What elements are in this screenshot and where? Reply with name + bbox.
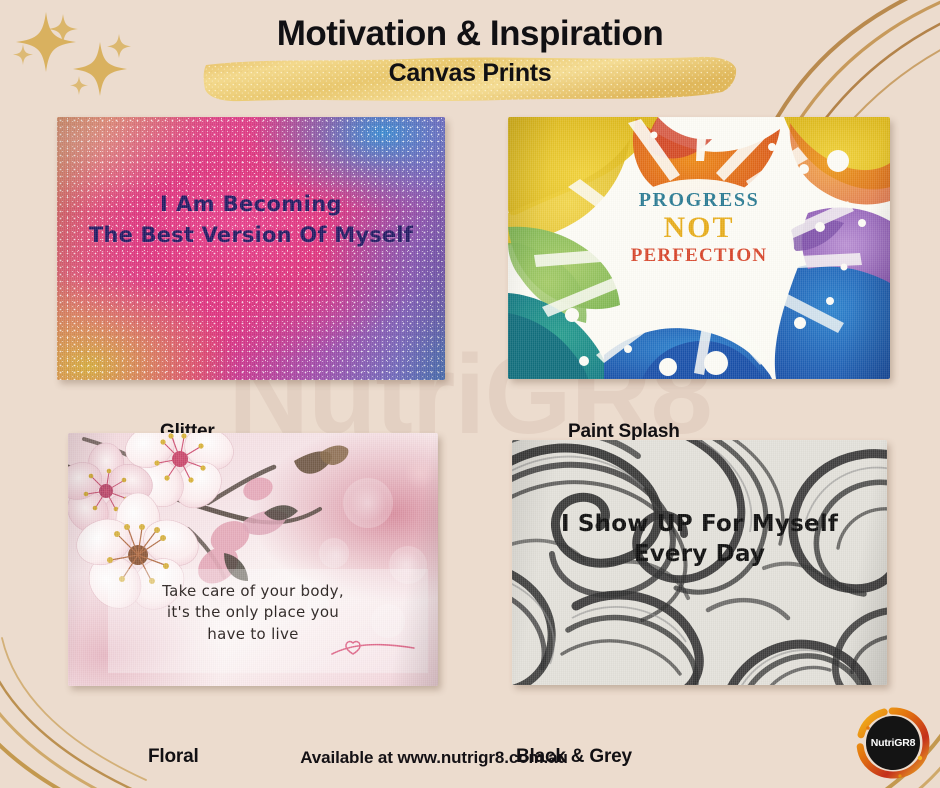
black-grey-canvas-image[interactable]: I Show UP For Myself Every Day [512,440,887,685]
page-subtitle: Canvas Prints [0,59,940,88]
availability-text: Available at www.nutrigr8.com.au [0,748,868,768]
black-grey-quote-line2: Every Day [512,540,887,568]
nutrigr8-logo[interactable]: NutriGR8 [856,706,930,780]
glitter-quote: I Am Becoming The Best Version Of Myself [57,191,445,250]
paint-splash-word-not: NOT [508,212,890,244]
paint-splash-word-perfection: PERFECTION [508,246,890,266]
poster-canvas-prints: NutriGR8 [0,0,940,788]
poster-header: Motivation & Inspiration [0,0,940,110]
glitter-canvas-image[interactable]: I Am Becoming The Best Version Of Myself [57,117,445,380]
paint-splash-canvas-image[interactable]: PROGRESS NOT PERFECTION [508,117,890,379]
paint-splash-quote: PROGRESS NOT PERFECTION [508,190,890,266]
floral-quote-line1: Take care of your body, [68,581,438,602]
product-card-floral[interactable]: Take care of your body, it's the only pl… [68,433,438,686]
floral-quote-line2: it's the only place you [68,602,438,623]
black-grey-quote-line1: I Show UP For Myself [512,510,887,538]
heart-flourish-icon [330,632,416,660]
product-card-black-grey[interactable]: I Show UP For Myself Every Day [512,440,887,685]
paint-splash-word-progress: PROGRESS [508,190,890,211]
glitter-quote-line2: The Best Version Of Myself [57,222,445,249]
glitter-quote-line1: I Am Becoming [57,191,445,218]
logo-text: NutriGR8 [856,706,930,780]
floral-canvas-image[interactable]: Take care of your body, it's the only pl… [68,433,438,686]
black-grey-quote: I Show UP For Myself Every Day [512,510,887,568]
product-card-paint-splash[interactable]: PROGRESS NOT PERFECTION [508,117,890,379]
page-title: Motivation & Inspiration [0,14,940,54]
product-card-glitter[interactable]: I Am Becoming The Best Version Of Myself [57,117,445,380]
